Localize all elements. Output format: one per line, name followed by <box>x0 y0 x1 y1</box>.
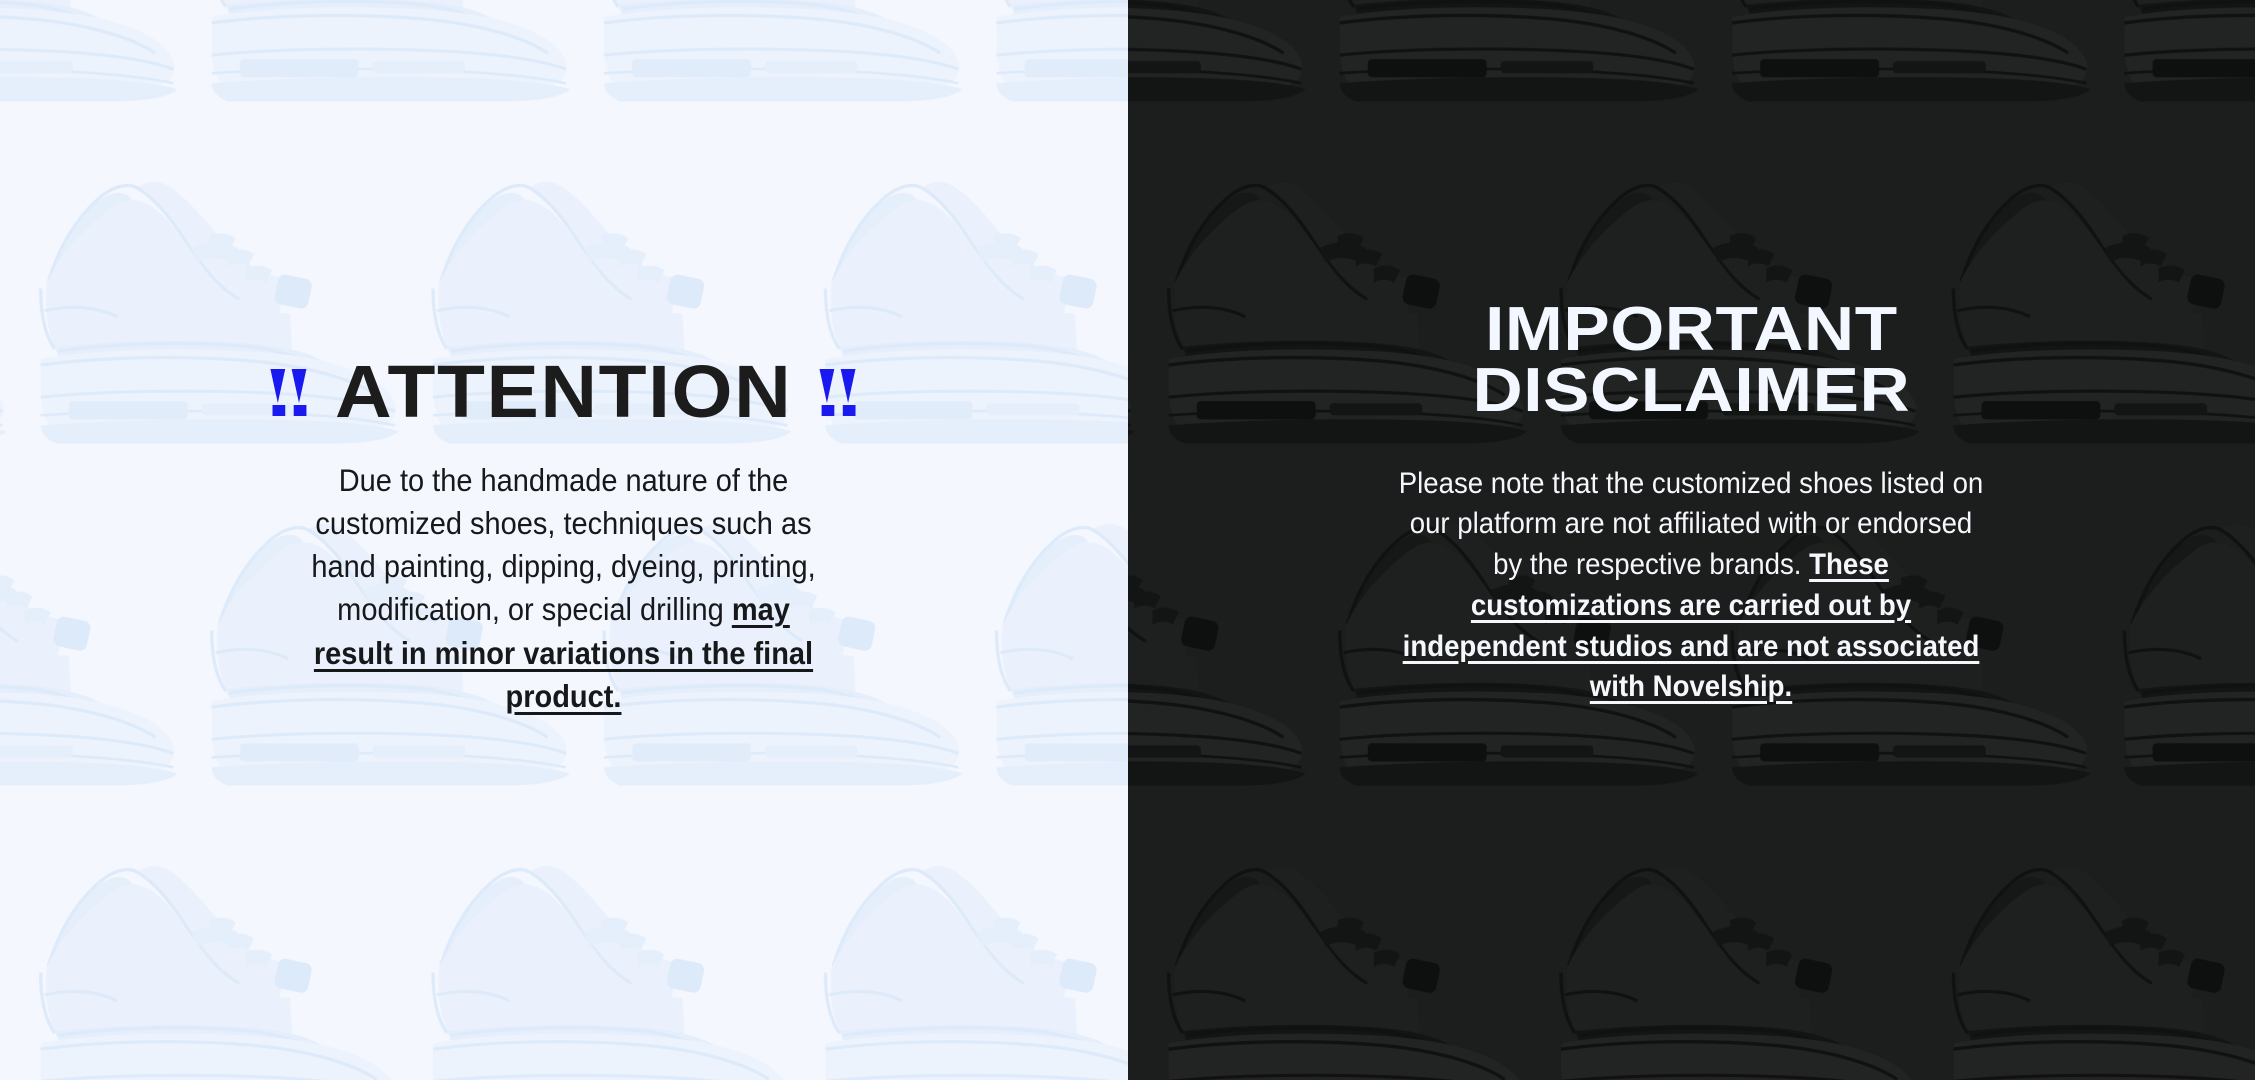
disclaimer-panel: IMPORTANT DISCLAIMER Please note that th… <box>1128 0 2255 1080</box>
disclaimer-body-plain: Please note that the customized shoes li… <box>1399 467 1984 582</box>
attention-body: Due to the handmade nature of the custom… <box>304 459 824 718</box>
attention-heading-label: ATTENTION <box>335 355 792 429</box>
disclaimer-heading-line2: DISCLAIMER <box>1472 361 1910 422</box>
attention-heading: ATTENTION <box>270 355 857 429</box>
disclaimer-heading-line1: IMPORTANT <box>1472 300 1910 361</box>
attention-panel: ATTENTION Due to the handmade nature of … <box>0 0 1128 1080</box>
disclaimer-body: Please note that the customized shoes li… <box>1397 464 1986 709</box>
disclaimer-content: IMPORTANT DISCLAIMER Please note that th… <box>1128 0 2255 708</box>
disclaimer-heading: IMPORTANT DISCLAIMER <box>1472 300 1910 422</box>
attention-content: ATTENTION Due to the handmade nature of … <box>0 0 1128 718</box>
double-exclamation-mark-icon-left <box>270 369 307 416</box>
disclaimer-banner: ATTENTION Due to the handmade nature of … <box>0 0 2255 1080</box>
double-exclamation-mark-icon-right <box>820 369 857 416</box>
